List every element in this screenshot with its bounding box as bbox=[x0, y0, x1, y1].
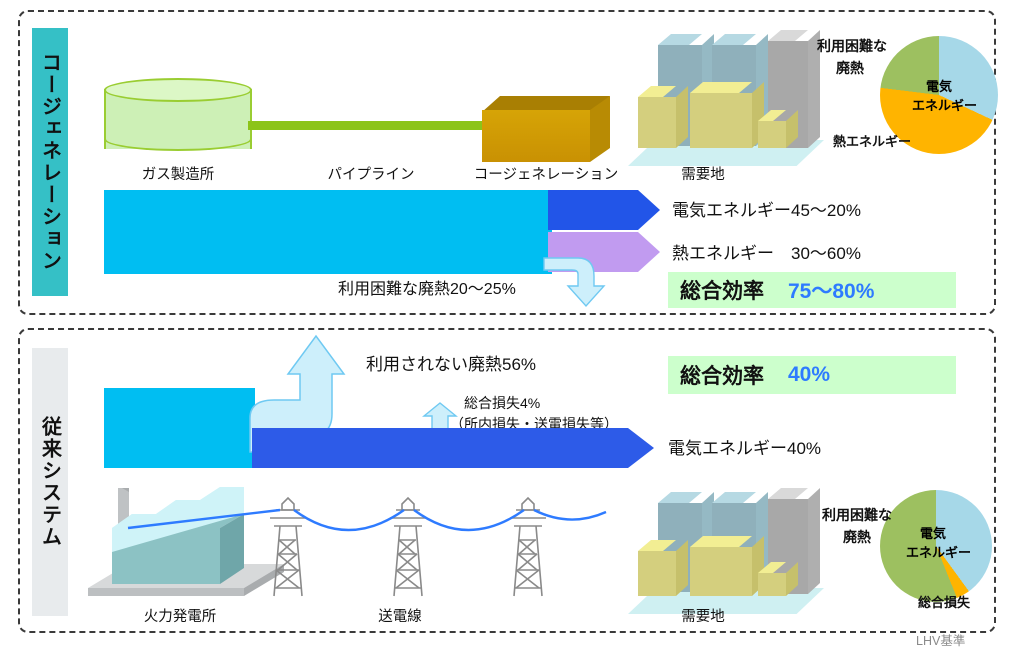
electric-energy-label-bottom: 電気エネルギー40% bbox=[668, 434, 821, 459]
input-energy-bar-top bbox=[104, 190, 552, 274]
cogeneration-unit-caption: コージェネレーション bbox=[460, 163, 632, 184]
total-efficiency-value-top: 75～80% bbox=[788, 275, 874, 305]
transmission-line-icon bbox=[250, 496, 610, 608]
waste-heat-label-top: 利用困難な廃熱20～25% bbox=[338, 275, 516, 299]
lhv-footnote: LHV基準 bbox=[916, 630, 965, 649]
pie-label-electric-bottom: 電気 bbox=[920, 523, 946, 542]
pie-label-electric-top: 電気 bbox=[926, 76, 952, 95]
pie-label-total-loss-bottom: 総合損失 bbox=[918, 592, 970, 611]
pie-label-waste-heat-top-2: 廃熱 bbox=[836, 58, 864, 78]
total-efficiency-label-top: 総合効率 bbox=[680, 275, 764, 305]
pie-label-electric-top-2: エネルギー bbox=[912, 95, 977, 114]
total-efficiency-box-top: 総合効率 75～80% bbox=[668, 272, 956, 308]
gas-plant-icon bbox=[104, 78, 252, 156]
thermal-energy-label-top: 熱エネルギー 30～60% bbox=[672, 239, 861, 264]
demand-area-caption-top: 需要地 bbox=[628, 163, 778, 184]
input-energy-bar-bottom bbox=[104, 388, 255, 468]
demand-area-caption-bottom: 需要地 bbox=[628, 605, 778, 626]
pie-label-thermal-top: 熱エネルギー bbox=[833, 131, 911, 150]
total-efficiency-value-bottom: 40% bbox=[788, 363, 830, 387]
unused-heat-label: 利用されない廃熱56% bbox=[366, 350, 536, 375]
pie-label-waste-heat-bottom-2: 廃熱 bbox=[843, 527, 871, 547]
demand-area-icon-bottom bbox=[628, 488, 828, 612]
waste-heat-down-arrow-top bbox=[542, 256, 612, 310]
total-efficiency-label-bottom: 総合効率 bbox=[680, 360, 764, 390]
total-efficiency-box-bottom: 総合効率 40% bbox=[668, 356, 956, 394]
thermal-power-plant-caption: 火力発電所 bbox=[90, 605, 270, 626]
total-loss-label: 総合損失4% bbox=[464, 393, 540, 413]
cogeneration-side-label: コージェネレーション bbox=[32, 28, 68, 296]
transmission-line-caption: 送電線 bbox=[330, 605, 470, 626]
electric-energy-arrow-top bbox=[548, 190, 660, 230]
pie-label-electric-bottom-2: エネルギー bbox=[906, 542, 971, 561]
pie-label-waste-heat-bottom: 利用困難な bbox=[822, 505, 892, 525]
gas-plant-caption: ガス製造所 bbox=[104, 163, 252, 184]
pipeline-icon bbox=[248, 121, 494, 130]
cogeneration-unit-icon bbox=[482, 96, 610, 162]
pie-label-waste-heat-top: 利用困難な bbox=[817, 36, 887, 56]
electric-energy-label-top: 電気エネルギー45～20% bbox=[672, 196, 861, 221]
conventional-system-side-label: 従来システム bbox=[32, 348, 68, 616]
demand-area-icon bbox=[628, 28, 828, 164]
pipeline-caption: パイプライン bbox=[292, 163, 450, 184]
electric-energy-arrow-bottom bbox=[252, 428, 654, 468]
energy-flow-diagram: コージェネレーション ガス製造所 パイプライン コージェネレーション bbox=[0, 0, 1012, 651]
